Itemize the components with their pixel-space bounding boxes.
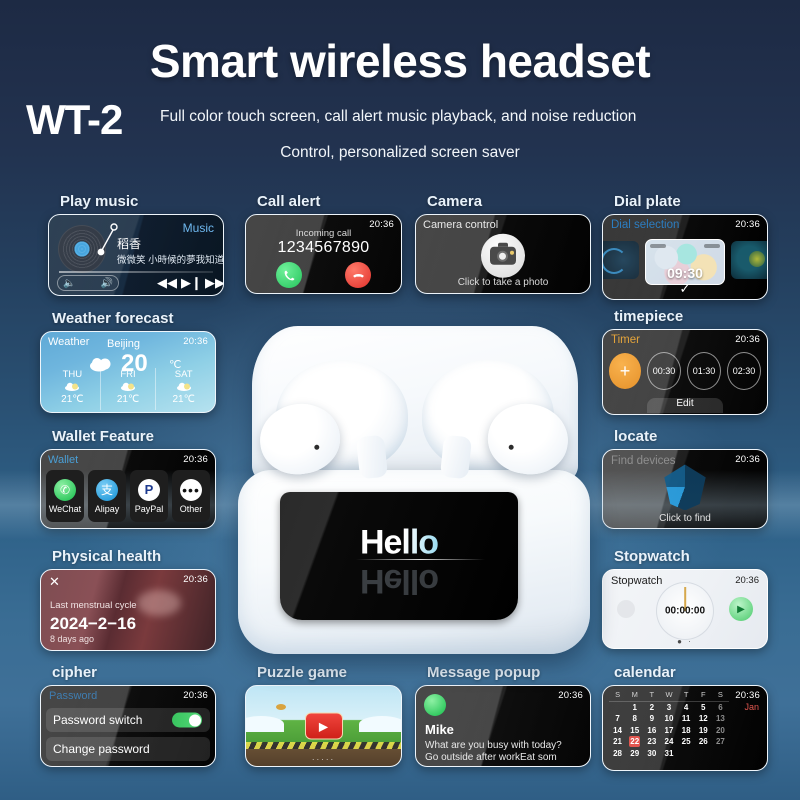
screen-dial-plate[interactable]: Dial selection 20:36 09:30 ✓ xyxy=(602,214,768,300)
feature-cipher: cipher Password 20:36 Password switch Ch… xyxy=(40,664,216,767)
progress-bar[interactable] xyxy=(59,271,213,273)
call-status-text: Incoming call xyxy=(246,228,401,239)
calendar-month: Jan xyxy=(744,702,759,712)
feature-label-dial-plate: Dial plate xyxy=(614,193,768,210)
case-touch-screen[interactable]: Hello Hello xyxy=(280,492,518,620)
timer-title: Timer xyxy=(611,334,640,346)
weather-day-temp: 21℃ xyxy=(45,394,100,405)
page-indicator[interactable]: ● · xyxy=(677,637,693,646)
weather-day-name: FRI xyxy=(101,369,156,380)
play-icon: ▶ xyxy=(737,604,745,615)
calendar-week-row: 123456 xyxy=(609,701,729,713)
feature-label-puzzle-game: Puzzle game xyxy=(257,664,402,681)
calendar-week-row: 21222324252627 xyxy=(609,736,729,748)
wallet-item-paypal[interactable]: P PayPal xyxy=(130,470,168,522)
status-time: 20:36 xyxy=(183,336,208,347)
play-game-button[interactable]: ▶ xyxy=(305,713,343,740)
ellipsis-icon: ••• xyxy=(180,479,202,501)
change-password-row[interactable]: Change password xyxy=(46,737,210,761)
dial-thumbnail-selected[interactable]: 09:30 xyxy=(645,239,725,285)
subtitle-line-1: Full color touch screen, call alert musi… xyxy=(160,108,636,126)
weather-day-temp: 21℃ xyxy=(101,394,156,405)
calendar-day[interactable]: 6 xyxy=(712,701,729,713)
message-sender: Mike xyxy=(425,722,454,737)
feature-play-music: Play music Music 稻香 微微笑 小時候的夢我知道 🔈 🔊 ◀◀ … xyxy=(48,193,224,296)
feature-call-alert: Call alert 20:36 Incoming call 123456789… xyxy=(245,193,402,294)
screen-physical-health[interactable]: ✕ 20:36 Last menstrual cycle 2024−2−16 8… xyxy=(40,569,216,651)
feature-message-popup: Message popup 20:36 Mike What are you bu… xyxy=(415,664,591,767)
alipay-icon: 支 xyxy=(96,479,118,501)
calendar-weekday: T xyxy=(643,689,660,701)
wallet-item-wechat[interactable]: ✆ WeChat xyxy=(46,470,84,522)
calendar-day-selected[interactable]: 22 xyxy=(626,736,643,748)
wechat-icon xyxy=(424,694,446,716)
wallet-item-alipay[interactable]: 支 Alipay xyxy=(88,470,126,522)
header: Smart wireless headset WT-2 Full color t… xyxy=(0,0,800,180)
status-time: 20:36 xyxy=(183,454,208,465)
password-switch-label: Password switch xyxy=(53,713,142,727)
calendar-day[interactable]: 2 xyxy=(643,701,660,713)
calendar-day[interactable]: 21 xyxy=(609,736,626,748)
earbud-stem-right xyxy=(440,435,472,480)
calendar-day-empty xyxy=(678,748,695,760)
shutter-button[interactable] xyxy=(481,234,525,278)
status-time: 20:36 xyxy=(735,575,759,586)
weather-day-temp: 21℃ xyxy=(156,394,211,405)
password-toggle[interactable] xyxy=(172,713,202,728)
ground-stripe xyxy=(246,742,401,749)
weather-day: FRI 21℃ xyxy=(100,368,156,410)
calendar-day-empty xyxy=(712,748,729,760)
calendar-weekday: S xyxy=(609,689,626,701)
dial-watch-time: 09:30 xyxy=(646,265,724,281)
case-screen-text-reflection: Hello xyxy=(280,561,518,600)
bird-sprite xyxy=(276,704,286,710)
camera-flash-icon xyxy=(510,251,514,255)
feature-label-physical-health: Physical health xyxy=(52,548,216,565)
status-time: 20:36 xyxy=(735,454,760,465)
close-icon[interactable]: ✕ xyxy=(49,574,60,590)
calendar-day[interactable]: 25 xyxy=(678,736,695,748)
dial-thumbnail-next[interactable] xyxy=(731,241,768,279)
dial-thumbnail-previous[interactable] xyxy=(602,241,639,279)
health-subtitle: Last menstrual cycle xyxy=(50,600,137,611)
calendar-day[interactable]: 27 xyxy=(712,736,729,748)
feature-label-stopwatch: Stopwatch xyxy=(614,548,768,565)
calendar-day[interactable]: 30 xyxy=(643,748,660,760)
check-icon[interactable]: ✓ xyxy=(603,281,767,297)
feature-camera: Camera Camera control Click to take a ph… xyxy=(415,193,591,294)
weather-title: Weather xyxy=(48,336,89,348)
volume-control[interactable]: 🔈 🔊 xyxy=(57,275,119,291)
decline-call-button[interactable] xyxy=(345,262,371,288)
screen-timer[interactable]: Timer 20:36 + 00:30 01:30 02:30 Edit xyxy=(602,329,768,415)
calendar-weekday: W xyxy=(660,689,677,701)
weather-day-name: THU xyxy=(45,369,100,380)
calendar-day[interactable]: 13 xyxy=(712,713,729,725)
feature-label-timepiece: timepiece xyxy=(614,308,768,325)
health-days-ago: 8 days ago xyxy=(50,634,94,644)
stopwatch-title: Stopwatch xyxy=(611,575,662,587)
next-track-icon[interactable]: ▶▶ xyxy=(205,275,224,291)
calendar-day[interactable]: 31 xyxy=(660,748,677,760)
wallet-item-label: WeChat xyxy=(49,504,81,514)
promo-page: Smart wireless headset WT-2 Full color t… xyxy=(0,0,800,800)
health-date: 2024−2−16 xyxy=(50,614,136,634)
previous-track-icon[interactable]: ◀◀ xyxy=(157,275,177,291)
calendar-day[interactable]: 26 xyxy=(695,736,712,748)
screen-message-popup[interactable]: 20:36 Mike What are you busy with today?… xyxy=(415,685,591,767)
calendar-week-row: 14151617181920 xyxy=(609,725,729,737)
feature-weather-forecast: Weather forecast Weather Beijing 20:36 2… xyxy=(40,310,216,413)
calendar-day[interactable]: 3 xyxy=(660,701,677,713)
change-password-label: Change password xyxy=(53,742,150,756)
feature-dial-plate: Dial plate Dial selection 20:36 09:30 ✓ xyxy=(602,193,768,300)
calendar-day[interactable]: 20 xyxy=(712,725,729,737)
screen-wallet[interactable]: Wallet 20:36 ✆ WeChat 支 Alipay P PayPal … xyxy=(40,449,216,529)
status-time: 20:36 xyxy=(183,574,208,585)
hill-decoration xyxy=(245,716,284,732)
camera-icon xyxy=(490,247,516,265)
start-button[interactable]: ▶ xyxy=(729,597,753,621)
wallet-item-label: PayPal xyxy=(135,504,164,514)
calendar-weekday: F xyxy=(695,689,712,701)
feature-label-wallet: Wallet Feature xyxy=(52,428,216,445)
play-pause-icon[interactable]: ▶❙ xyxy=(181,275,202,291)
calendar-day[interactable]: 9 xyxy=(643,713,660,725)
volume-low-icon[interactable]: 🔈 xyxy=(63,278,75,289)
calendar-day[interactable]: 10 xyxy=(660,713,677,725)
feature-label-cipher: cipher xyxy=(52,664,216,681)
locate-hint[interactable]: Click to find xyxy=(603,513,767,524)
message-line-2: Go outside after workEat som xyxy=(425,752,557,763)
timer-preset[interactable]: 01:30 xyxy=(687,352,721,390)
calendar-day[interactable]: 8 xyxy=(626,713,643,725)
locate-title: Find devices xyxy=(611,455,676,467)
status-time: 20:36 xyxy=(558,690,583,701)
message-line-1: What are you busy with today? xyxy=(425,740,562,751)
calendar-day[interactable]: 28 xyxy=(609,748,626,760)
password-title: Password xyxy=(49,690,97,702)
song-title: 稻香 xyxy=(117,235,141,252)
stopwatch-value: 00:00:00 xyxy=(656,605,714,616)
calendar-weekday: S xyxy=(712,689,729,701)
calendar-day[interactable]: 23 xyxy=(643,736,660,748)
weather-day-name: SAT xyxy=(156,369,211,380)
calendar-day[interactable]: 17 xyxy=(660,725,677,737)
feature-label-locate: locate xyxy=(614,428,768,445)
wechat-icon: ✆ xyxy=(54,479,76,501)
screen-weather[interactable]: Weather Beijing 20:36 20 ℃ THU 21℃ FRI xyxy=(40,331,216,413)
calendar-day[interactable]: 1 xyxy=(626,701,643,713)
feature-label-camera: Camera xyxy=(427,193,591,210)
volume-high-icon[interactable]: 🔊 xyxy=(101,278,113,289)
stopwatch-dial: 00:00:00 xyxy=(656,582,714,640)
cloud-icon xyxy=(63,381,81,391)
feature-timepiece: timepiece Timer 20:36 + 00:30 01:30 02:3… xyxy=(602,308,768,415)
calendar-day[interactable]: 24 xyxy=(660,736,677,748)
timer-preset[interactable]: 02:30 xyxy=(727,352,761,390)
hill-decoration xyxy=(359,716,402,732)
decorative-blob xyxy=(137,590,181,616)
calendar-day-empty xyxy=(695,748,712,760)
page-title: Smart wireless headset xyxy=(0,34,800,88)
password-switch-row[interactable]: Password switch xyxy=(46,708,210,732)
case-screen-text: Hello xyxy=(280,524,518,563)
calendar-week-row: 28293031 xyxy=(609,748,729,760)
calendar-week-row: 78910111213 xyxy=(609,713,729,725)
song-artist: 微微笑 小時候的夢我知道 xyxy=(117,252,224,266)
accept-call-button[interactable] xyxy=(276,262,302,288)
wallet-item-list: ✆ WeChat 支 Alipay P PayPal ••• Other xyxy=(46,470,210,522)
earbud-stem-left xyxy=(356,435,388,480)
weather-day: THU 21℃ xyxy=(45,368,100,410)
calendar-day[interactable]: 29 xyxy=(626,748,643,760)
paypal-icon: P xyxy=(138,479,160,501)
camera-lens-icon xyxy=(497,251,508,262)
mic-hole-right xyxy=(508,444,514,450)
caller-number: 1234567890 xyxy=(246,239,401,257)
calendar-day[interactable]: 5 xyxy=(695,701,712,713)
screen-cipher[interactable]: Password 20:36 Password switch Change pa… xyxy=(40,685,216,767)
phone-icon xyxy=(283,269,296,282)
screen-call-alert[interactable]: 20:36 Incoming call 1234567890 xyxy=(245,214,402,294)
wallet-item-label: Alipay xyxy=(95,504,120,514)
cloud-icon xyxy=(119,381,137,391)
calendar-grid[interactable]: SMTWTFS123456789101112131415161718192021… xyxy=(609,689,761,759)
dial-selection-title: Dial selection xyxy=(611,219,679,231)
status-time: 20:36 xyxy=(183,690,208,701)
camera-hint: Click to take a photo xyxy=(416,277,590,288)
radar-beam-icon xyxy=(662,464,708,510)
app-name-music: Music xyxy=(183,221,214,235)
product-image-earbuds-case: Hello Hello xyxy=(238,318,590,658)
calendar-day[interactable]: 15 xyxy=(626,725,643,737)
calendar-day[interactable]: 18 xyxy=(678,725,695,737)
feature-wallet: Wallet Feature Wallet 20:36 ✆ WeChat 支 A… xyxy=(40,428,216,529)
screen-stopwatch[interactable]: Stopwatch 20:36 00:00:00 ▶ ● · xyxy=(602,569,768,649)
feature-label-call-alert: Call alert xyxy=(257,193,402,210)
feature-puzzle-game: Puzzle game ▶ ····· xyxy=(245,664,402,767)
play-icon: ▶ xyxy=(319,719,328,733)
feature-label-message-popup: Message popup xyxy=(427,664,591,681)
subtitle-line-2: Control, personalized screen saver xyxy=(0,144,800,162)
phone-hangup-icon xyxy=(352,269,365,282)
wallet-item-label: Other xyxy=(180,504,203,514)
screen-glow-line xyxy=(356,559,485,561)
screen-locate[interactable]: Find devices 20:36 Click to find xyxy=(602,449,768,529)
calendar-day[interactable]: 11 xyxy=(678,713,695,725)
calendar-table: SMTWTFS123456789101112131415161718192021… xyxy=(609,689,729,759)
cloud-icon xyxy=(175,381,193,391)
feature-calendar: calendar 20:36 Jan SMTWTFS12345678910111… xyxy=(602,664,768,771)
wallet-item-other[interactable]: ••• Other xyxy=(172,470,210,522)
feature-physical-health: Physical health ✕ 20:36 Last menstrual c… xyxy=(40,548,216,651)
screen-play-music[interactable]: Music 稻香 微微笑 小時候的夢我知道 🔈 🔊 ◀◀ ▶❙ ▶▶ xyxy=(48,214,224,296)
calendar-day[interactable]: 4 xyxy=(678,701,695,713)
weather-day: SAT 21℃ xyxy=(155,368,211,410)
edit-button[interactable]: Edit xyxy=(647,398,723,413)
lap-button[interactable] xyxy=(617,600,635,618)
calendar-day[interactable]: 19 xyxy=(695,725,712,737)
calendar-day[interactable]: 12 xyxy=(695,713,712,725)
calendar-day[interactable]: 14 xyxy=(609,725,626,737)
timer-preset-list: + 00:30 01:30 02:30 xyxy=(609,352,761,390)
feature-label-play-music: Play music xyxy=(60,193,224,210)
status-time: 20:36 xyxy=(735,219,760,230)
calendar-day[interactable]: 16 xyxy=(643,725,660,737)
screen-calendar[interactable]: 20:36 Jan SMTWTFS12345678910111213141516… xyxy=(602,685,768,771)
mic-hole-left xyxy=(314,444,320,450)
calendar-day[interactable]: 7 xyxy=(609,713,626,725)
weather-day-list: THU 21℃ FRI 21℃ SAT 21℃ xyxy=(45,368,211,410)
weather-city: Beijing xyxy=(107,338,140,350)
dial-status-bar xyxy=(650,243,720,248)
screen-puzzle-game[interactable]: ▶ ····· xyxy=(245,685,402,767)
calendar-day-empty xyxy=(609,701,626,713)
model-name: WT-2 xyxy=(26,96,122,144)
feature-locate: locate Find devices 20:36 Click to find xyxy=(602,428,768,529)
feature-stopwatch: Stopwatch Stopwatch 20:36 00:00:00 ▶ ● · xyxy=(602,548,768,649)
case-body: Hello Hello xyxy=(238,470,590,654)
feature-label-weather-forecast: Weather forecast xyxy=(52,310,216,327)
camera-title: Camera control xyxy=(423,219,498,231)
timer-preset[interactable]: 00:30 xyxy=(647,352,681,390)
feature-label-calendar: calendar xyxy=(614,664,768,681)
dial-carousel[interactable]: 09:30 xyxy=(603,239,767,281)
status-time: 20:36 xyxy=(735,334,760,345)
wallet-title: Wallet xyxy=(48,454,78,466)
add-timer-button[interactable]: + xyxy=(609,353,641,389)
page-indicator[interactable]: ····· xyxy=(312,755,335,764)
calendar-weekday: M xyxy=(626,689,643,701)
screen-camera[interactable]: Camera control Click to take a photo xyxy=(415,214,591,294)
calendar-weekday: T xyxy=(678,689,695,701)
